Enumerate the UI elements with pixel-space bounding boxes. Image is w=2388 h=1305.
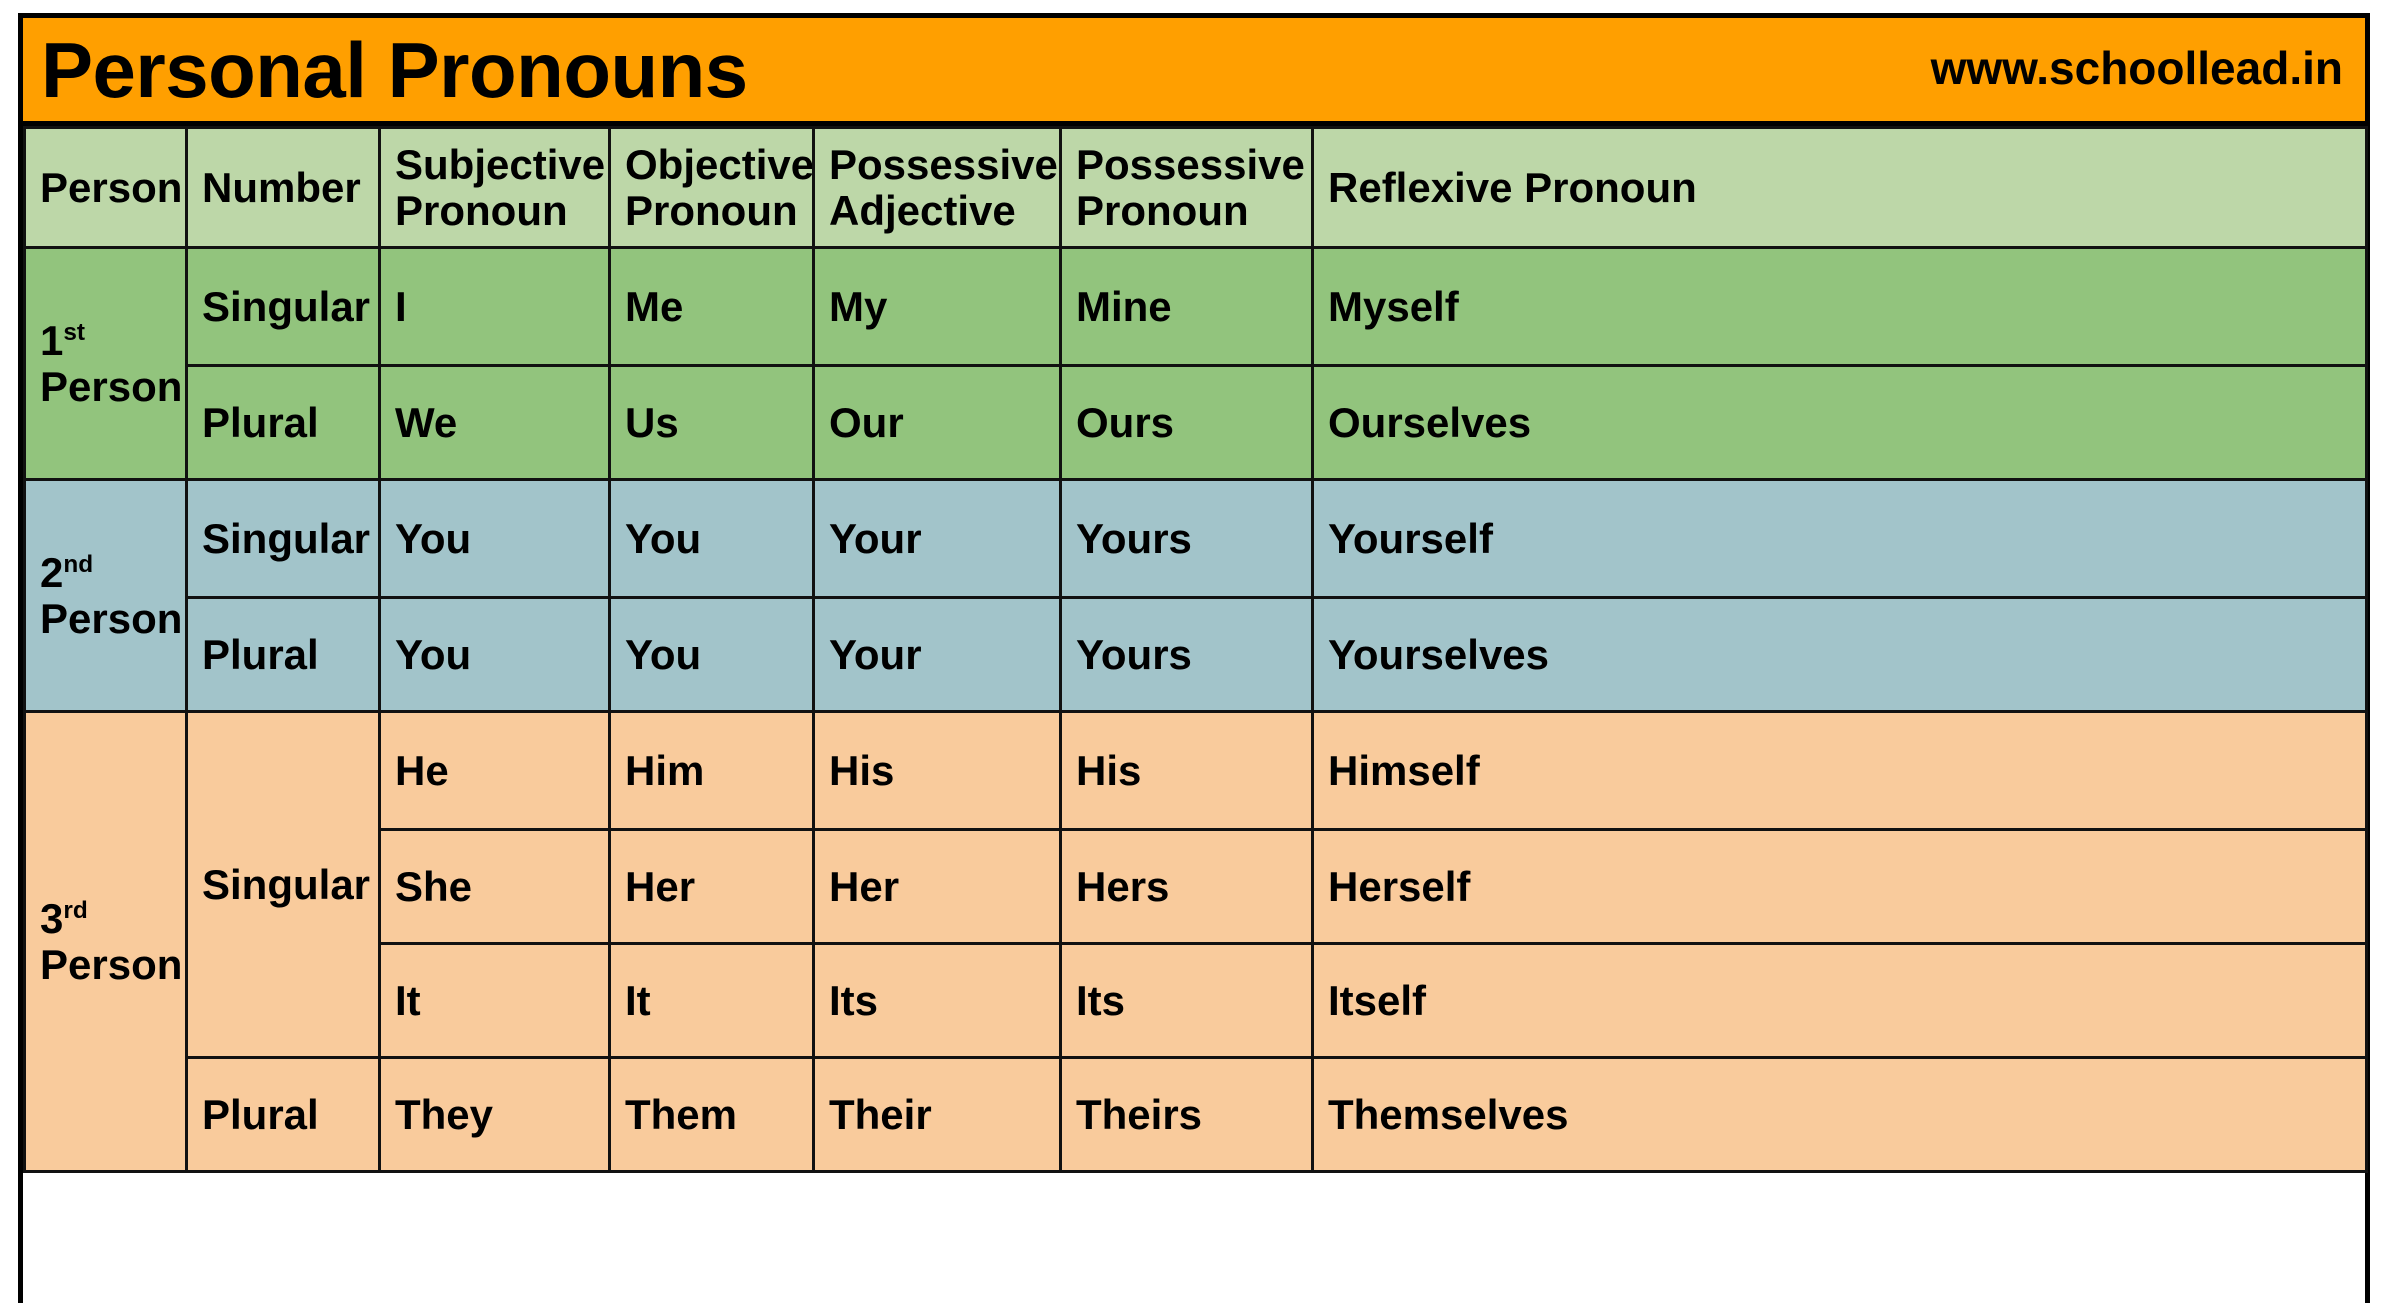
pronouns-card: Personal Pronouns www.schoollead.in Pers… [18, 13, 2370, 1303]
cell-objective: Her [610, 830, 814, 944]
cell-possessive-pronoun: Ours [1061, 366, 1313, 480]
personal-pronouns-table: Person Number Subjective Pronoun Objecti… [23, 126, 2368, 1173]
cell-reflexive: Myself [1313, 248, 2367, 366]
person-ordinal-suffix: nd [63, 551, 93, 578]
cell-possessive-pronoun: Its [1061, 944, 1313, 1058]
column-header-reflexive-pronoun: Reflexive Pronoun [1313, 128, 2367, 248]
cell-reflexive: Itself [1313, 944, 2367, 1058]
website-credit: www.schoollead.in [1931, 45, 2343, 95]
cell-possessive-adjective: My [814, 248, 1061, 366]
person-ordinal-suffix: st [63, 319, 85, 346]
cell-objective: Them [610, 1058, 814, 1172]
cell-possessive-adjective: His [814, 712, 1061, 830]
cell-subjective: We [380, 366, 610, 480]
cell-objective: You [610, 480, 814, 598]
cell-possessive-pronoun: His [1061, 712, 1313, 830]
cell-reflexive: Himself [1313, 712, 2367, 830]
number-cell: Plural [187, 366, 380, 480]
table-header-row: Person Number Subjective Pronoun Objecti… [25, 128, 2367, 248]
table-row: Plural You You Your Yours Yourselves [25, 598, 2367, 712]
table-row: 1stPerson Singular I Me My Mine Myself [25, 248, 2367, 366]
person-ordinal: 3 [40, 895, 63, 942]
column-header-possessive-adjective: Possessive Adjective [814, 128, 1061, 248]
number-cell: Singular [187, 248, 380, 366]
cell-objective: Us [610, 366, 814, 480]
person-cell-first: 1stPerson [25, 248, 187, 480]
cell-possessive-pronoun: Theirs [1061, 1058, 1313, 1172]
page-root: Personal Pronouns www.schoollead.in Pers… [0, 0, 2388, 1305]
cell-subjective: It [380, 944, 610, 1058]
person-label: Person [40, 595, 182, 642]
column-header-number: Number [187, 128, 380, 248]
person-cell-third: 3rdPerson [25, 712, 187, 1172]
page-title: Personal Pronouns [41, 31, 748, 109]
cell-possessive-pronoun: Yours [1061, 480, 1313, 598]
number-cell: Plural [187, 1058, 380, 1172]
cell-reflexive: Herself [1313, 830, 2367, 944]
title-banner: Personal Pronouns www.schoollead.in [23, 18, 2365, 126]
cell-possessive-adjective: Its [814, 944, 1061, 1058]
cell-subjective: You [380, 480, 610, 598]
table-row: Plural They Them Their Theirs Themselves [25, 1058, 2367, 1172]
cell-reflexive: Yourself [1313, 480, 2367, 598]
column-header-possessive-pronoun: Possessive Pronoun [1061, 128, 1313, 248]
cell-possessive-pronoun: Yours [1061, 598, 1313, 712]
cell-reflexive: Ourselves [1313, 366, 2367, 480]
cell-possessive-adjective: Your [814, 598, 1061, 712]
cell-possessive-adjective: Our [814, 366, 1061, 480]
person-ordinal-suffix: rd [63, 897, 87, 924]
table-row: Plural We Us Our Ours Ourselves [25, 366, 2367, 480]
cell-reflexive: Themselves [1313, 1058, 2367, 1172]
table-row: 3rdPerson Singular He Him His His Himsel… [25, 712, 2367, 830]
cell-subjective: He [380, 712, 610, 830]
number-cell: Singular [187, 712, 380, 1058]
cell-possessive-adjective: Their [814, 1058, 1061, 1172]
column-header-subjective-pronoun: Subjective Pronoun [380, 128, 610, 248]
table-row: 2ndPerson Singular You You Your Yours Yo… [25, 480, 2367, 598]
person-ordinal: 1 [40, 317, 63, 364]
cell-possessive-pronoun: Mine [1061, 248, 1313, 366]
person-cell-second: 2ndPerson [25, 480, 187, 712]
cell-reflexive: Yourselves [1313, 598, 2367, 712]
number-cell: Plural [187, 598, 380, 712]
cell-possessive-adjective: Her [814, 830, 1061, 944]
number-cell: Singular [187, 480, 380, 598]
cell-possessive-adjective: Your [814, 480, 1061, 598]
person-label: Person [40, 941, 182, 988]
cell-objective: Me [610, 248, 814, 366]
column-header-objective-pronoun: Objective Pronoun [610, 128, 814, 248]
person-ordinal: 2 [40, 549, 63, 596]
cell-subjective: You [380, 598, 610, 712]
cell-possessive-pronoun: Hers [1061, 830, 1313, 944]
person-label: Person [40, 363, 182, 410]
cell-objective: You [610, 598, 814, 712]
cell-subjective: She [380, 830, 610, 944]
cell-objective: It [610, 944, 814, 1058]
cell-objective: Him [610, 712, 814, 830]
cell-subjective: They [380, 1058, 610, 1172]
cell-subjective: I [380, 248, 610, 366]
column-header-person: Person [25, 128, 187, 248]
